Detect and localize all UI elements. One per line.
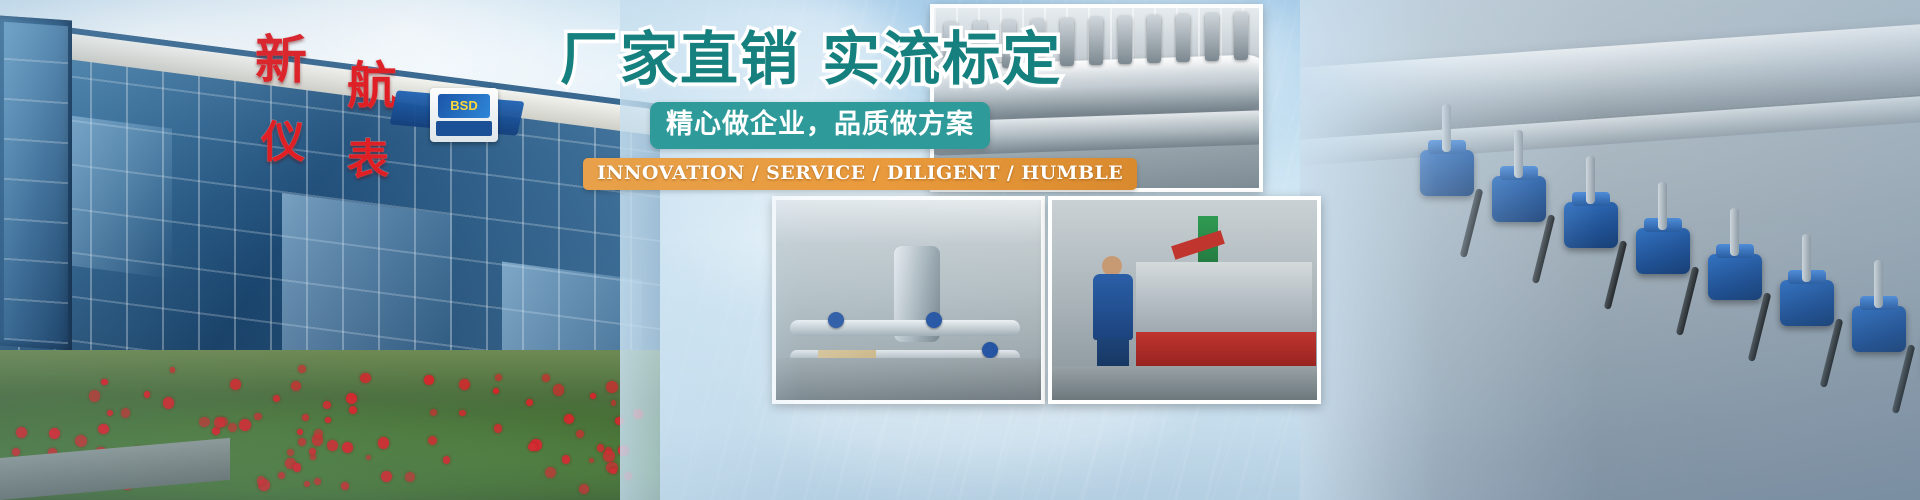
logo-subplate <box>436 121 492 136</box>
flower-dot <box>424 375 433 384</box>
photo-blue-transmitter-row <box>1300 0 1920 500</box>
manifold-nozzle <box>1205 13 1219 61</box>
photo-edge-fade <box>1300 0 1920 500</box>
flower-dot <box>495 374 502 381</box>
workshop-floor <box>1052 366 1317 400</box>
blue-valve <box>982 342 998 358</box>
flower-dot <box>564 414 574 424</box>
banner-headline: 厂家直销 实流标定 <box>560 28 1030 90</box>
flower-dot <box>443 456 450 463</box>
flower-dot <box>239 419 251 431</box>
banner-subtitle: 精心做企业，品质做方案 <box>666 109 974 140</box>
flower-dot <box>49 428 60 439</box>
manifold-nozzle <box>1147 15 1161 63</box>
flower-dot <box>107 410 113 416</box>
worker-head <box>1102 256 1122 276</box>
photo-skid-piping-plant <box>772 196 1045 404</box>
banner-text-block: 厂家直销 实流标定 精心做企业，品质做方案 INNOVATION / SERVI… <box>560 28 1030 190</box>
manifold-nozzle <box>1234 12 1248 60</box>
banner-tagline-bar: INNOVATION / SERVICE / DILIGENT / HUMBLE <box>583 158 1137 190</box>
flower-dot <box>603 450 615 462</box>
tower-glass <box>4 22 68 344</box>
flower-dot <box>230 379 240 389</box>
flower-dot <box>98 424 108 434</box>
plant-roof <box>776 200 1041 246</box>
flower-dot <box>287 449 294 456</box>
flower-dot <box>310 454 315 459</box>
flower-dot <box>12 448 20 456</box>
flower-dot <box>624 472 632 480</box>
flower-dot <box>298 438 306 446</box>
flower-dot <box>542 374 550 382</box>
flower-dot <box>214 417 225 428</box>
plant-floor <box>776 358 1041 400</box>
flower-dot <box>101 379 108 386</box>
flower-dot <box>170 367 175 372</box>
flower-dot <box>528 443 537 452</box>
logo-mark: BSD <box>438 94 490 118</box>
flower-dot <box>293 463 301 471</box>
flower-dot <box>494 424 502 432</box>
blue-valve <box>926 312 942 328</box>
flower-dot <box>297 429 303 435</box>
company-banner: 新 航 仪 表 BSD <box>0 0 1920 500</box>
blue-valve <box>828 312 844 328</box>
flower-dot <box>325 417 331 423</box>
manifold-nozzle <box>1118 16 1132 64</box>
flower-dot <box>304 481 310 487</box>
flower-dot <box>545 467 556 478</box>
banner-subtitle-bar: 精心做企业，品质做方案 <box>650 102 990 149</box>
flower-dot <box>75 435 87 447</box>
manifold-nozzle <box>1060 18 1074 66</box>
logo-mark-text: BSD <box>438 94 490 118</box>
flower-dot <box>298 365 306 373</box>
flower-dot <box>633 409 643 419</box>
flower-dot <box>273 395 280 402</box>
roof-char-1: 新 <box>255 18 307 93</box>
roof-char-2: 航 <box>347 46 397 118</box>
banner-tagline: INNOVATION / SERVICE / DILIGENT / HUMBLE <box>597 162 1123 185</box>
flower-dot <box>144 391 150 397</box>
manifold-nozzle <box>1176 14 1190 62</box>
roof-char-3: 仪 <box>261 106 305 170</box>
flower-dot <box>228 423 237 432</box>
flower-dot <box>346 393 357 404</box>
manifold-nozzle <box>1089 17 1103 65</box>
corner-tower <box>0 15 72 350</box>
flower-dot <box>526 399 533 406</box>
flower-dot <box>199 417 209 427</box>
flower-dot <box>562 455 570 463</box>
photo-cnc-machine-worker <box>1048 196 1321 404</box>
roof-char-4: 表 <box>347 126 389 187</box>
flower-dot <box>378 437 389 448</box>
flower-dot <box>430 409 437 416</box>
flower-dot <box>163 397 174 408</box>
worker-torso <box>1093 274 1133 340</box>
flower-dot <box>553 384 564 395</box>
flower-dot <box>323 401 331 409</box>
process-pipe-upper <box>790 320 1020 336</box>
flower-dot <box>381 471 392 482</box>
worker-figure <box>1090 256 1136 376</box>
flower-dot <box>615 417 623 425</box>
flower-dot <box>405 472 415 482</box>
flower-dot <box>89 390 101 402</box>
flower-dot <box>611 400 617 406</box>
flower-dot <box>579 484 589 494</box>
flower-dot <box>302 414 309 421</box>
flower-dot <box>606 381 618 393</box>
flower-dot <box>597 444 604 451</box>
flower-dot <box>309 448 316 455</box>
roof-logo-plate: BSD <box>430 88 498 142</box>
